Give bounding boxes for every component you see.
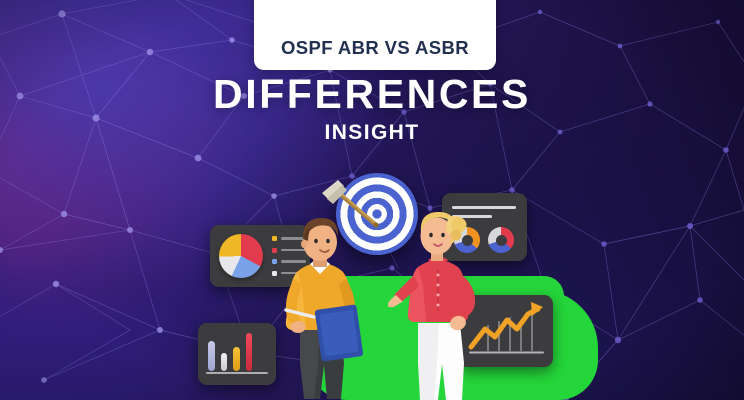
bar [208,341,215,371]
page-subtitle: INSIGHT [0,122,744,143]
pie-chart [219,234,263,278]
banner-graphic: OSPF ABR VS ASBR DIFFERENCES INSIGHT [0,0,744,400]
bar [233,347,240,371]
bar-chart-panel [198,323,276,385]
female-presenter-figure [388,211,488,400]
bar [221,353,228,371]
bar [246,333,253,371]
page-title: DIFFERENCES [0,74,744,115]
bar-chart-baseline [206,372,268,374]
banner-label: OSPF ABR VS ASBR [281,37,469,70]
bar-chart [208,333,252,371]
topic-banner: OSPF ABR VS ASBR [254,0,496,70]
male-presenter-figure [272,217,368,400]
panel-header-line [452,206,516,209]
donut-chart-right [488,227,514,253]
illustration-group [190,165,580,400]
